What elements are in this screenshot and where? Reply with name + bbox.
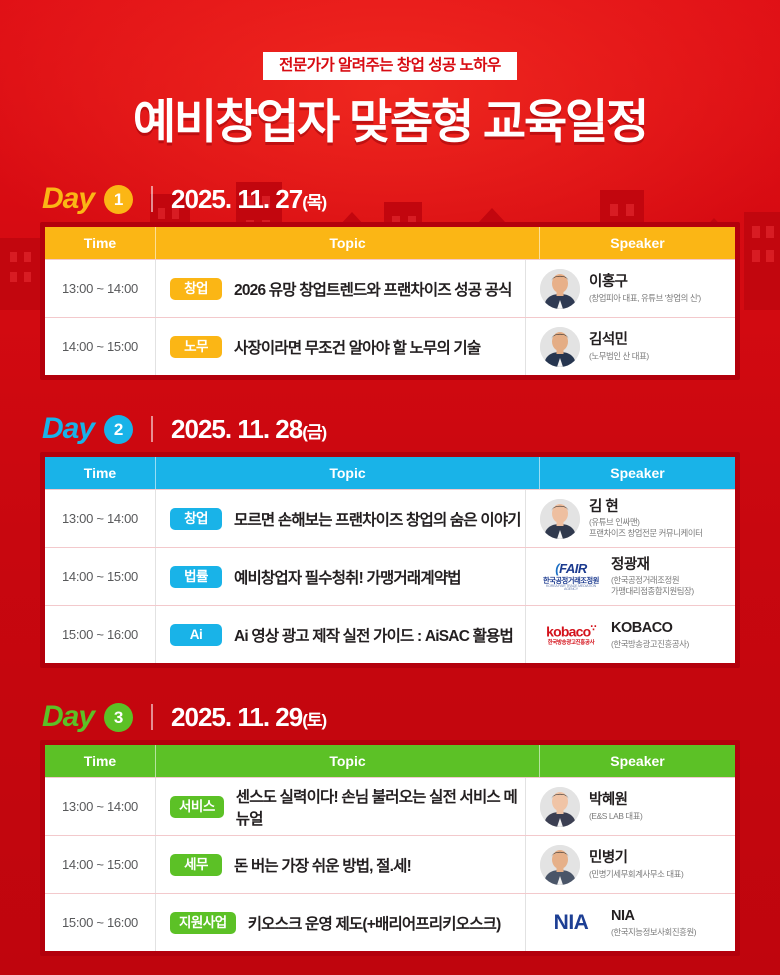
table-row: 13:00 ~ 14:00창업모르면 손해보는 프랜차이즈 창업의 숨은 이야기… [45,489,735,547]
schedule-days: Day12025. 11. 27(목)TimeTopicSpeaker13:00… [0,176,780,956]
day-block-2: Day22025. 11. 28(금)TimeTopicSpeaker13:00… [40,406,740,668]
speaker-info: 이홍구(창업피아 대표, 유튜브 '창업의 신') [589,274,701,304]
day-label: Day [42,184,94,214]
day-date: 2025. 11. 29(토) [171,704,326,730]
day-divider [151,186,153,212]
topic-category-tag: 노무 [170,336,222,359]
day-date: 2025. 11. 28(금) [171,416,326,442]
schedule-table-day3: TimeTopicSpeaker13:00 ~ 14:00서비스센스도 실력이다… [40,740,740,956]
table-row: 15:00 ~ 16:00지원사업키오스크 운영 제도(+배리어프리키오스크)N… [45,893,735,951]
cell-time: 15:00 ~ 16:00 [45,606,155,663]
cell-speaker: 김 현(유튜브 인싸맨) 프랜차이즈 창업전문 커뮤니케이터 [526,490,735,547]
cell-time: 14:00 ~ 15:00 [45,836,155,893]
day-date-text: 2025. 11. 28 [171,414,302,444]
topic-category-tag: Ai [170,624,222,647]
schedule-table-day1: TimeTopicSpeaker13:00 ~ 14:00창업2026 유망 창… [40,222,740,380]
column-header-speaker: Speaker [540,753,735,769]
cell-topic: 세무돈 버는 가장 쉬운 방법, 절.세! [155,836,526,893]
day-date-text: 2025. 11. 27 [171,184,302,214]
cell-topic: 지원사업키오스크 운영 제도(+배리어프리키오스크) [155,894,526,951]
speaker-affiliation: (창업피아 대표, 유튜브 '창업의 신') [589,293,701,304]
cell-topic: AiAi 영상 광고 제작 실전 가이드 : AiSAC 활용법 [155,606,526,663]
table-row: 14:00 ~ 15:00법률예비창업자 필수청취! 가맹거래계약법(FAIR한… [45,547,735,605]
speaker-name: 정광재 [611,557,694,574]
speaker-avatar [540,499,580,539]
speaker-info: 김 현(유튜브 인싸맨) 프랜차이즈 창업전문 커뮤니케이터 [589,499,702,540]
speaker-affiliation: (민병기세무회계사무소 대표) [589,869,683,880]
table-row: 13:00 ~ 14:00창업2026 유망 창업트렌드와 프랜차이즈 성공 공… [45,259,735,317]
speaker-name: 김 현 [589,499,702,516]
speaker-info: KOBACO(한국방송광고진흥공사) [611,620,689,650]
topic-title: 돈 버는 가장 쉬운 방법, 절.세! [234,854,411,876]
day-header-3: Day32025. 11. 29(토) [40,694,740,740]
speaker-avatar [540,787,580,827]
day-label: Day [42,702,94,732]
column-header-speaker: Speaker [540,465,735,481]
day-weekday: (토) [302,711,326,730]
cell-speaker: 민병기(민병기세무회계사무소 대표) [526,836,735,893]
page-title: 예비창업자 맞춤형 교육일정 [0,97,780,146]
cell-time: 14:00 ~ 15:00 [45,318,155,375]
day-block-3: Day32025. 11. 29(토)TimeTopicSpeaker13:00… [40,694,740,956]
day-weekday: (금) [302,423,326,442]
column-header-time: Time [45,465,155,481]
speaker-info: NIA(한국지능정보사회진흥원) [611,908,696,938]
speaker-affiliation: (한국공정거래조정원 가맹대리점종합지원팀장) [611,575,694,597]
table-header-row: TimeTopicSpeaker [45,457,735,489]
topic-category-tag: 창업 [170,508,222,531]
speaker-info: 김석민(노무법인 산 대표) [589,332,649,362]
column-header-speaker: Speaker [540,235,735,251]
day-divider [151,704,153,730]
topic-title: 사장이라면 무조건 알아야 할 노무의 기술 [234,336,480,358]
speaker-affiliation: (한국방송광고진흥공사) [611,639,689,650]
cell-time: 13:00 ~ 14:00 [45,490,155,547]
topic-category-tag: 세무 [170,854,222,877]
cell-speaker: kobaco∵한국방송광고진흥공사KOBACO(한국방송광고진흥공사) [526,606,735,663]
column-header-topic: Topic [155,457,540,489]
cell-time: 13:00 ~ 14:00 [45,260,155,317]
day-date: 2025. 11. 27(목) [171,186,326,212]
day-header-1: Day12025. 11. 27(목) [40,176,740,222]
day-label: Day [42,414,94,444]
cell-speaker: 박혜원(E&S LAB 대표) [526,778,735,835]
cell-topic: 노무사장이라면 무조건 알아야 할 노무의 기술 [155,318,526,375]
column-header-time: Time [45,753,155,769]
cell-speaker: NIANIA(한국지능정보사회진흥원) [526,894,735,951]
day-divider [151,416,153,442]
speaker-avatar [540,269,580,309]
topic-category-tag: 지원사업 [170,912,236,935]
day-number-badge: 3 [104,703,133,732]
nia-logo-icon: NIA [540,912,602,933]
speaker-name: KOBACO [611,620,689,637]
topic-title: Ai 영상 광고 제작 실전 가이드 : AiSAC 활용법 [234,624,513,646]
fair-logo-icon: (FAIR한국공정거래조정원KOREA FAIR TRADE MEDIATION… [540,562,602,592]
cell-topic: 서비스센스도 실력이다! 손님 불러오는 실전 서비스 메뉴얼 [155,778,526,835]
speaker-affiliation: (E&S LAB 대표) [589,811,642,822]
table-header-row: TimeTopicSpeaker [45,745,735,777]
topic-category-tag: 서비스 [170,796,224,819]
cell-speaker: (FAIR한국공정거래조정원KOREA FAIR TRADE MEDIATION… [526,548,735,605]
cell-time: 14:00 ~ 15:00 [45,548,155,605]
speaker-name: 이홍구 [589,274,701,291]
cell-time: 13:00 ~ 14:00 [45,778,155,835]
speaker-name: 박혜원 [589,792,642,809]
column-header-topic: Topic [155,745,540,777]
topic-title: 모르면 손해보는 프랜차이즈 창업의 숨은 이야기 [234,508,521,530]
speaker-info: 정광재(한국공정거래조정원 가맹대리점종합지원팀장) [611,557,694,598]
kicker-badge: 전문가가 알려주는 창업 성공 노하우 [263,52,517,80]
poster-header: 전문가가 알려주는 창업 성공 노하우 예비창업자 맞춤형 교육일정 [0,0,780,146]
speaker-name: 민병기 [589,850,683,867]
topic-title: 예비창업자 필수청취! 가맹거래계약법 [234,566,461,588]
speaker-name: 김석민 [589,332,649,349]
cell-speaker: 이홍구(창업피아 대표, 유튜브 '창업의 신') [526,260,735,317]
table-row: 15:00 ~ 16:00AiAi 영상 광고 제작 실전 가이드 : AiSA… [45,605,735,663]
cell-topic: 창업2026 유망 창업트렌드와 프랜차이즈 성공 공식 [155,260,526,317]
column-header-time: Time [45,235,155,251]
topic-category-tag: 창업 [170,278,222,301]
day-block-1: Day12025. 11. 27(목)TimeTopicSpeaker13:00… [40,176,740,380]
day-number-badge: 2 [104,415,133,444]
table-row: 14:00 ~ 15:00세무돈 버는 가장 쉬운 방법, 절.세!민병기(민병… [45,835,735,893]
speaker-info: 박혜원(E&S LAB 대표) [589,792,642,822]
cell-speaker: 김석민(노무법인 산 대표) [526,318,735,375]
table-row: 14:00 ~ 15:00노무사장이라면 무조건 알아야 할 노무의 기술김석민… [45,317,735,375]
speaker-affiliation: (노무법인 산 대표) [589,351,649,362]
day-date-text: 2025. 11. 29 [171,702,302,732]
day-weekday: (목) [302,193,326,212]
schedule-table-day2: TimeTopicSpeaker13:00 ~ 14:00창업모르면 손해보는 … [40,452,740,668]
column-header-topic: Topic [155,227,540,259]
speaker-info: 민병기(민병기세무회계사무소 대표) [589,850,683,880]
topic-title: 센스도 실력이다! 손님 불러오는 실전 서비스 메뉴얼 [236,785,525,829]
cell-time: 15:00 ~ 16:00 [45,894,155,951]
speaker-affiliation: (한국지능정보사회진흥원) [611,927,696,938]
speaker-avatar [540,845,580,885]
day-header-2: Day22025. 11. 28(금) [40,406,740,452]
day-number-badge: 1 [104,185,133,214]
topic-title: 2026 유망 창업트렌드와 프랜차이즈 성공 공식 [234,278,512,300]
table-row: 13:00 ~ 14:00서비스센스도 실력이다! 손님 불러오는 실전 서비스… [45,777,735,835]
topic-title: 키오스크 운영 제도(+배리어프리키오스크) [248,912,501,934]
cell-topic: 법률예비창업자 필수청취! 가맹거래계약법 [155,548,526,605]
speaker-affiliation: (유튜브 인싸맨) 프랜차이즈 창업전문 커뮤니케이터 [589,517,702,539]
table-header-row: TimeTopicSpeaker [45,227,735,259]
speaker-avatar [540,327,580,367]
speaker-name: NIA [611,908,696,925]
cell-topic: 창업모르면 손해보는 프랜차이즈 창업의 숨은 이야기 [155,490,526,547]
kobaco-logo-icon: kobaco∵한국방송광고진흥공사 [540,624,602,646]
topic-category-tag: 법률 [170,566,222,589]
